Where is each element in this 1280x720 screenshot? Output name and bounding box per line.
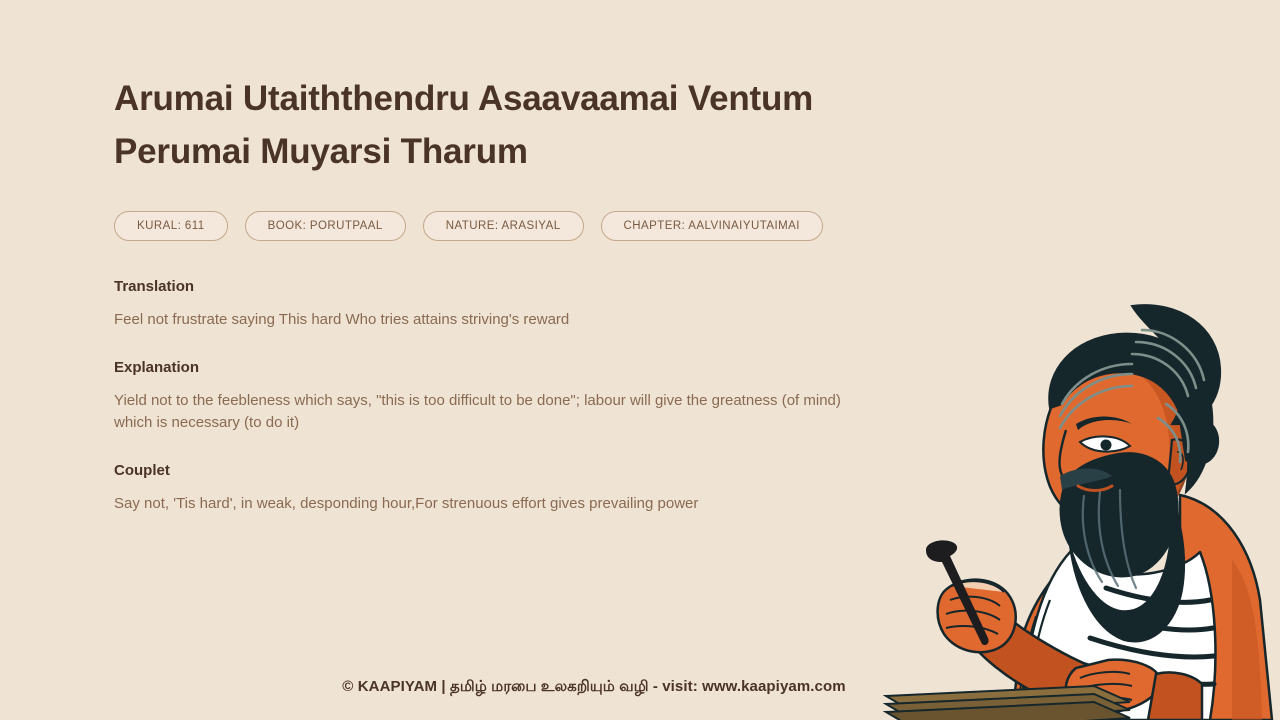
footer-credit[interactable]: © KAAPIYAM | தமிழ் மரபை உலகறியும் வழி - … <box>0 678 1188 697</box>
section-translation: Translation Feel not frustrate saying Th… <box>114 277 874 331</box>
page-title: Arumai Utaiththendru Asaavaamai Ventum P… <box>114 72 854 178</box>
section-explanation: Explanation Yield not to the feebleness … <box>114 358 874 434</box>
thiruvalluvar-illustration <box>880 300 1280 720</box>
badge-nature[interactable]: NATURE: ARASIYAL <box>423 211 584 241</box>
couplet-heading: Couplet <box>114 461 874 481</box>
translation-heading: Translation <box>114 277 874 297</box>
badge-book[interactable]: BOOK: PORUTPAAL <box>245 211 406 241</box>
explanation-text: Yield not to the feebleness which says, … <box>114 390 859 434</box>
kural-card: Arumai Utaiththendru Asaavaamai Ventum P… <box>0 0 1280 720</box>
metadata-badges: KURAL: 611 BOOK: PORUTPAAL NATURE: ARASI… <box>114 211 874 241</box>
couplet-text: Say not, 'Tis hard', in weak, desponding… <box>114 493 859 515</box>
explanation-heading: Explanation <box>114 358 874 378</box>
badge-kural[interactable]: KURAL: 611 <box>114 211 228 241</box>
badge-chapter[interactable]: CHAPTER: AALVINAIYUTAIMAI <box>601 211 823 241</box>
kural-content: Arumai Utaiththendru Asaavaamai Ventum P… <box>114 72 874 515</box>
section-couplet: Couplet Say not, 'Tis hard', in weak, de… <box>114 461 874 515</box>
translation-text: Feel not frustrate saying This hard Who … <box>114 309 859 331</box>
